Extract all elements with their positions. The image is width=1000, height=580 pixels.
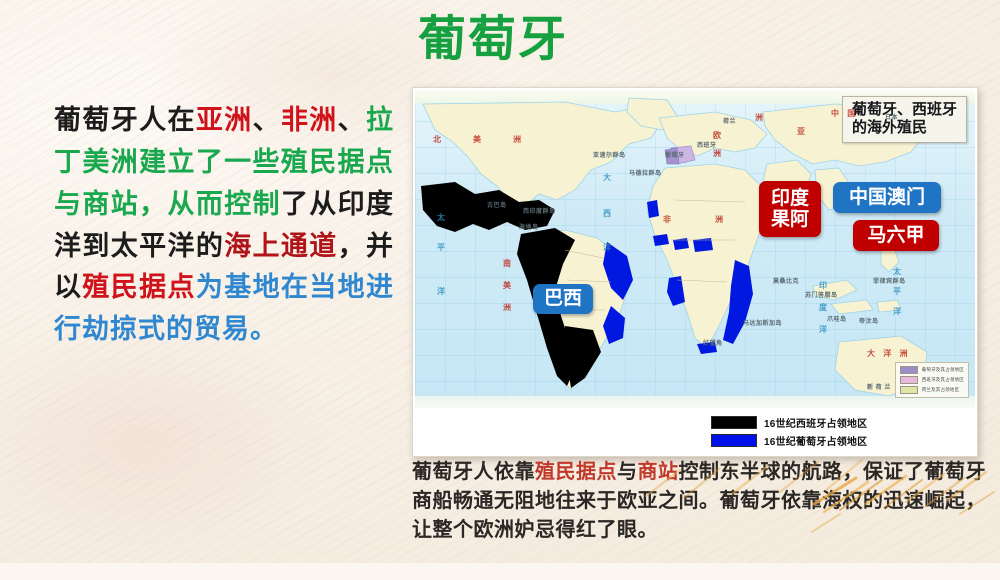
map-callout-malacca: 马六甲 bbox=[853, 220, 939, 251]
legend-row-1: 16世纪葡萄牙占领地区 bbox=[711, 433, 975, 448]
left-text-run-4: 、 bbox=[338, 105, 366, 135]
caption-run-2: 与 bbox=[617, 461, 638, 483]
ocean-label-10: 平 bbox=[893, 286, 903, 297]
inner-legend-label-1: 西班牙及其占领地区 bbox=[922, 377, 964, 383]
ocean-label-4: 平 bbox=[437, 242, 447, 253]
caption-paragraph: 葡萄牙人依靠殖民据点与商站控制东半球的航路，保证了葡萄牙商船畅通无阻地往来于欧亚… bbox=[412, 458, 992, 545]
caption-run-3: 商站 bbox=[638, 461, 679, 483]
ocean-label-3: 太 bbox=[437, 212, 447, 223]
place-label-5: 葡萄牙 bbox=[665, 150, 685, 159]
continent-label-11: 洲 bbox=[755, 112, 766, 123]
inner-legend-row-0: 葡萄牙及其占领地区 bbox=[900, 366, 964, 374]
ocean-label-7: 度 bbox=[819, 302, 829, 313]
place-label-10: 苏门答腊岛 bbox=[805, 290, 838, 299]
map-callout-macau: 中国澳门 bbox=[833, 182, 941, 213]
inner-legend-row-1: 西班牙及其占领地区 bbox=[900, 376, 964, 384]
place-label-13: 菲律宾群岛 bbox=[873, 276, 906, 285]
continent-label-2: 洲 bbox=[513, 134, 524, 145]
continent-label-3: 南 bbox=[503, 258, 514, 269]
place-label-14: 日本 bbox=[885, 112, 898, 121]
ocean-label-1: 西 bbox=[603, 208, 613, 219]
left-text-run-3: 非洲 bbox=[281, 105, 338, 135]
left-text-run-7: 从而控制 bbox=[167, 189, 280, 219]
place-label-16: 莫桑比克 bbox=[773, 276, 799, 285]
place-label-3: 西印度群岛 bbox=[523, 206, 556, 215]
inner-legend-label-2: 荷兰及其占领地区 bbox=[922, 387, 960, 393]
place-label-1: 马德拉群岛 bbox=[629, 168, 662, 177]
place-label-4: 海地岛 bbox=[519, 222, 539, 231]
place-label-7: 荷兰 bbox=[723, 116, 736, 125]
left-text-run-0: 葡萄牙人在 bbox=[54, 105, 196, 135]
place-label-12: 帝汶岛 bbox=[859, 316, 879, 325]
map-canvas: .ld{fill:#f7f2d2;stroke:#9fd4e8;stroke-w… bbox=[415, 90, 975, 408]
page-title: 葡萄牙 bbox=[418, 16, 568, 64]
continent-label-0: 北 bbox=[433, 134, 444, 145]
continent-label-5: 洲 bbox=[503, 302, 514, 313]
map-title-box: 葡萄牙、西班牙 的海外殖民 bbox=[842, 96, 967, 143]
continent-label-7: 洲 bbox=[713, 148, 724, 159]
continent-label-9: 洲 bbox=[715, 214, 726, 225]
legend-row-0: 16世纪西班牙占领地区 bbox=[711, 415, 975, 430]
ocean-label-11: 洋 bbox=[893, 306, 903, 317]
legend-swatch-blue bbox=[711, 434, 757, 447]
legend-swatch-black bbox=[711, 416, 757, 429]
left-text-run-11: 殖民据点 bbox=[82, 272, 195, 302]
place-label-11: 爪哇岛 bbox=[827, 314, 847, 323]
inner-legend-swatch-2 bbox=[900, 386, 918, 394]
map-callout-goa: 印度 果阿 bbox=[759, 181, 821, 237]
legend-label-1: 16世纪葡萄牙占领地区 bbox=[764, 433, 867, 448]
continent-label-8: 非 bbox=[663, 214, 674, 225]
place-label-2: 古巴岛 bbox=[487, 200, 507, 209]
inner-legend-swatch-0 bbox=[900, 366, 918, 374]
place-label-15: 新 荷 兰 bbox=[867, 382, 891, 391]
map-image-card: .ld{fill:#f7f2d2;stroke:#9fd4e8;stroke-w… bbox=[412, 87, 978, 457]
legend-label-0: 16世纪西班牙占领地区 bbox=[764, 415, 867, 430]
inner-legend-row-2: 荷兰及其占领地区 bbox=[900, 386, 964, 394]
inner-legend-label-0: 葡萄牙及其占领地区 bbox=[922, 367, 964, 373]
continent-label-1: 美 bbox=[473, 134, 484, 145]
caption-run-0: 葡萄牙人依靠 bbox=[412, 461, 535, 483]
place-label-9: 马达加斯加岛 bbox=[743, 318, 782, 327]
ocean-label-5: 洋 bbox=[437, 286, 447, 297]
continent-label-13: 中 国 bbox=[831, 108, 858, 119]
map-legend: 16世纪西班牙占领地区16世纪葡萄牙占领地区 bbox=[415, 408, 975, 454]
place-label-6: 西班牙 bbox=[697, 140, 717, 149]
ocean-label-2: 洋 bbox=[603, 242, 613, 253]
place-label-0: 亚速尔群岛 bbox=[593, 150, 626, 159]
continent-label-12: 大 洋 洲 bbox=[867, 348, 910, 359]
caption-run-1: 殖民据点 bbox=[535, 461, 617, 483]
map-callout-brazil: 巴西 bbox=[533, 284, 593, 314]
map-inner-legend: 葡萄牙及其占领地区西班牙及其占领地区荷兰及其占领地区 bbox=[895, 362, 969, 398]
continent-label-10: 亚 bbox=[797, 126, 808, 137]
ocean-label-8: 洋 bbox=[819, 324, 829, 335]
ocean-label-0: 大 bbox=[603, 172, 613, 183]
inner-legend-swatch-1 bbox=[900, 376, 918, 384]
place-label-8: 好望角 bbox=[703, 338, 723, 347]
continent-label-4: 美 bbox=[503, 280, 514, 291]
left-text-run-9: 海上通道 bbox=[224, 231, 337, 261]
left-text-run-1: 亚洲 bbox=[196, 105, 253, 135]
left-paragraph: 葡萄牙人在亚洲、非洲、拉丁美洲建立了一些殖民据点与商站，从而控制了从印度洋到太平… bbox=[54, 100, 394, 351]
left-text-run-2: 、 bbox=[253, 105, 281, 135]
